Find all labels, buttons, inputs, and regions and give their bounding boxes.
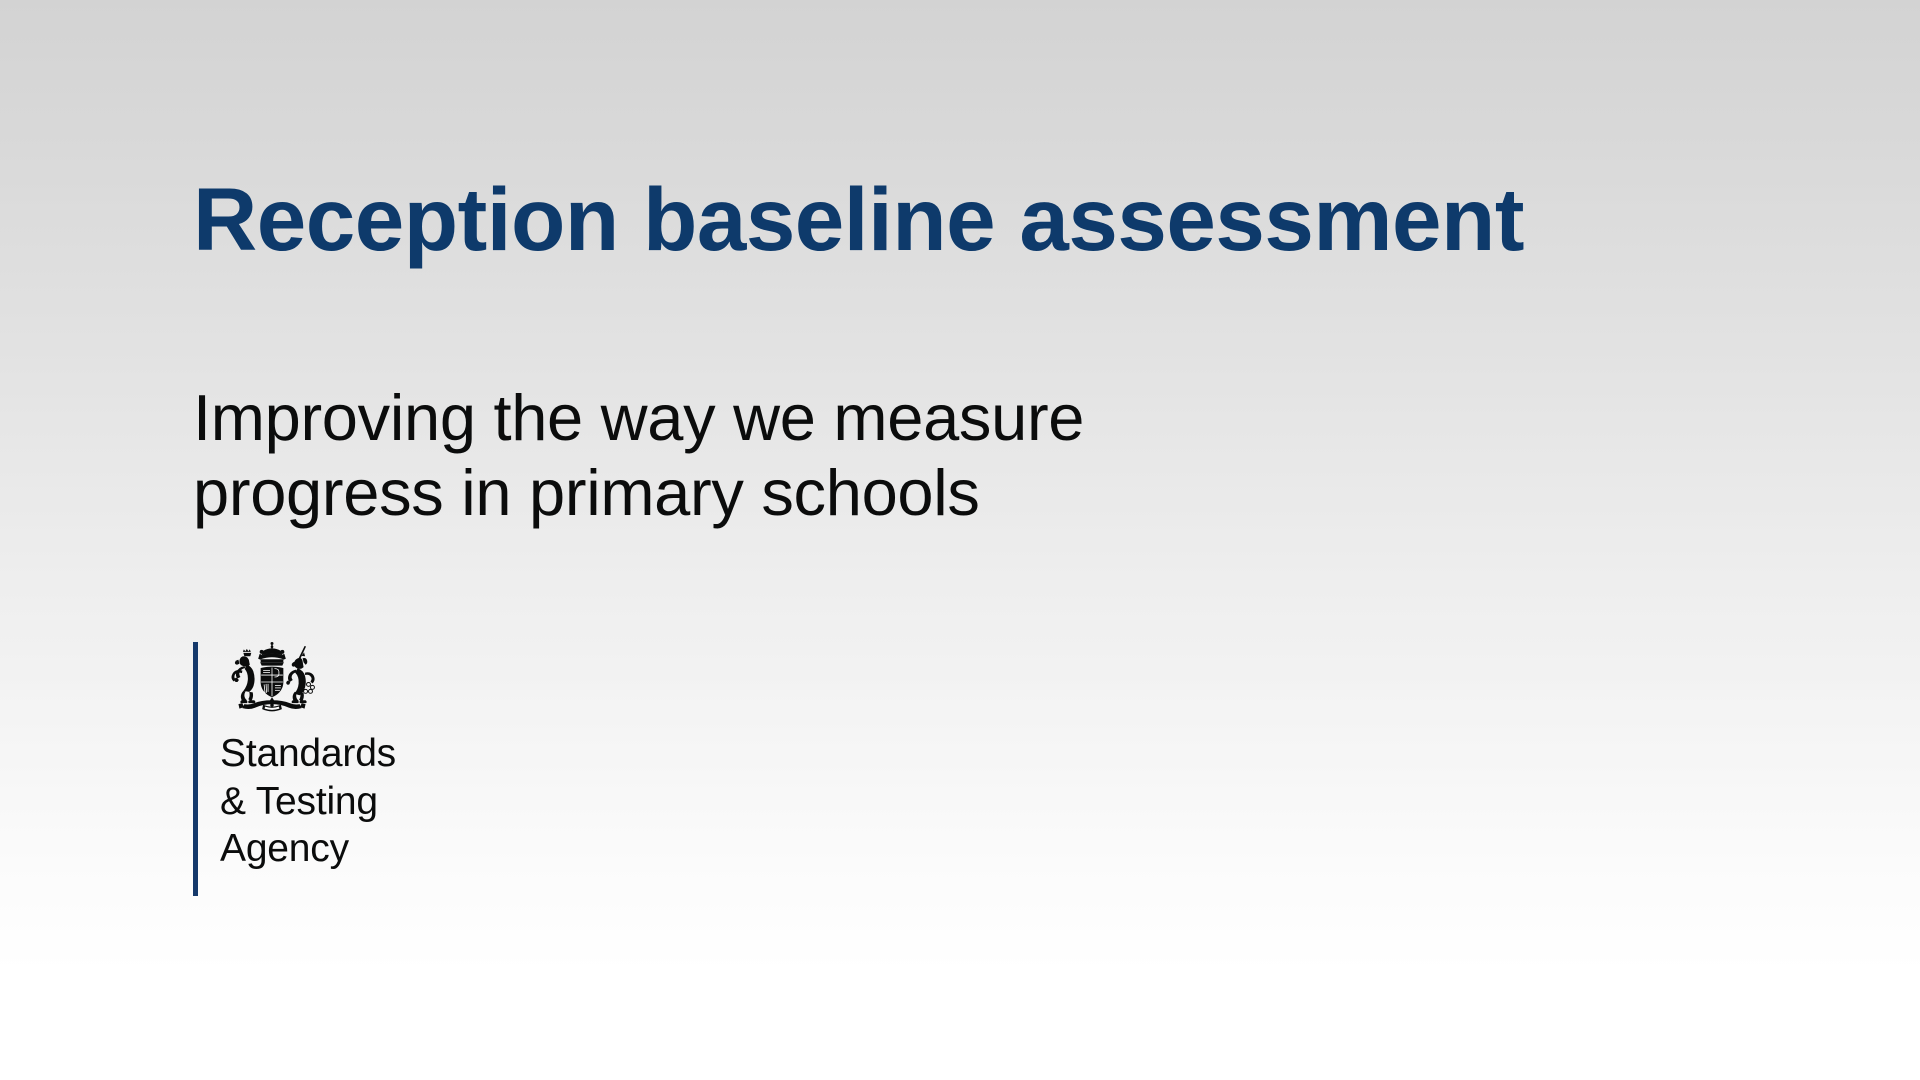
logo-body: Standards & Testing Agency (198, 642, 396, 896)
royal-coat-of-arms-icon (220, 642, 324, 716)
subtitle-line-1: Improving the way we measure (193, 380, 1513, 455)
presentation-slide: Reception baseline assessment Improving … (0, 0, 1920, 1080)
sta-logo: Standards & Testing Agency (193, 642, 396, 896)
subtitle: Improving the way we measure progress in… (193, 380, 1513, 531)
page-title: Reception baseline assessment (193, 175, 1793, 264)
logo-line-and-testing: & Testing (220, 778, 396, 826)
logo-wordmark: Standards & Testing Agency (220, 730, 396, 873)
logo-line-agency: Agency (220, 825, 396, 873)
subtitle-line-2: progress in primary schools (193, 455, 1513, 530)
logo-line-standards: Standards (220, 730, 396, 778)
